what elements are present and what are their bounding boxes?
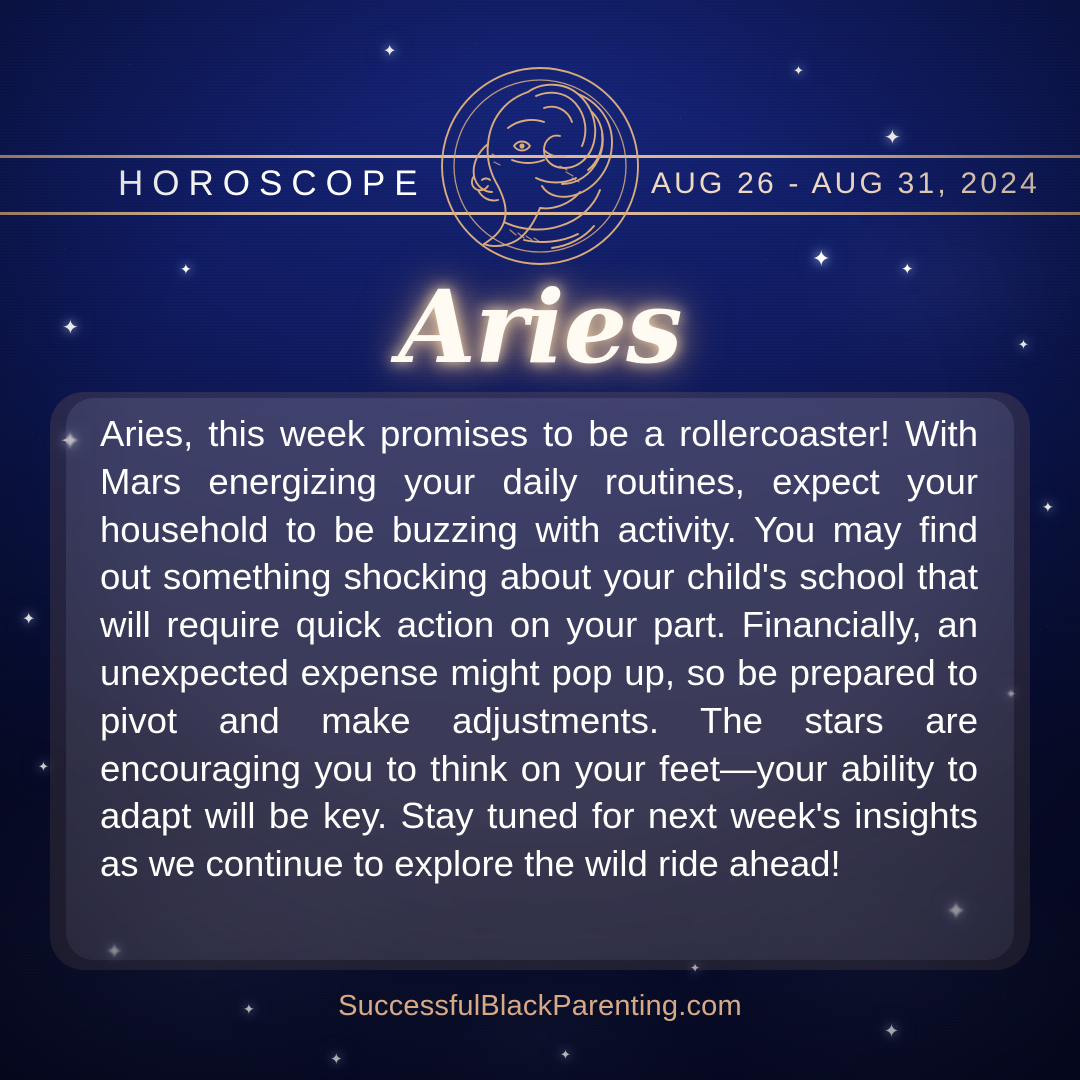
zodiac-sign-name: Aries: [0, 268, 1080, 386]
page-title: HOROSCOPE: [118, 160, 418, 208]
horoscope-reading-text: Aries, this week promises to be a roller…: [100, 410, 978, 950]
aries-ram-icon: [432, 58, 648, 274]
website-footer-link[interactable]: SuccessfulBlackParenting.com: [0, 990, 1080, 1023]
date-range-label: AUG 26 - AUG 31, 2024: [651, 162, 1040, 206]
horoscope-poster: ✦✦✦✦✦✦✦✦✦✦✦✦✦✦✦✦✦✦✦✦ HOROSCOPE AUG 26 - …: [0, 0, 1080, 1080]
